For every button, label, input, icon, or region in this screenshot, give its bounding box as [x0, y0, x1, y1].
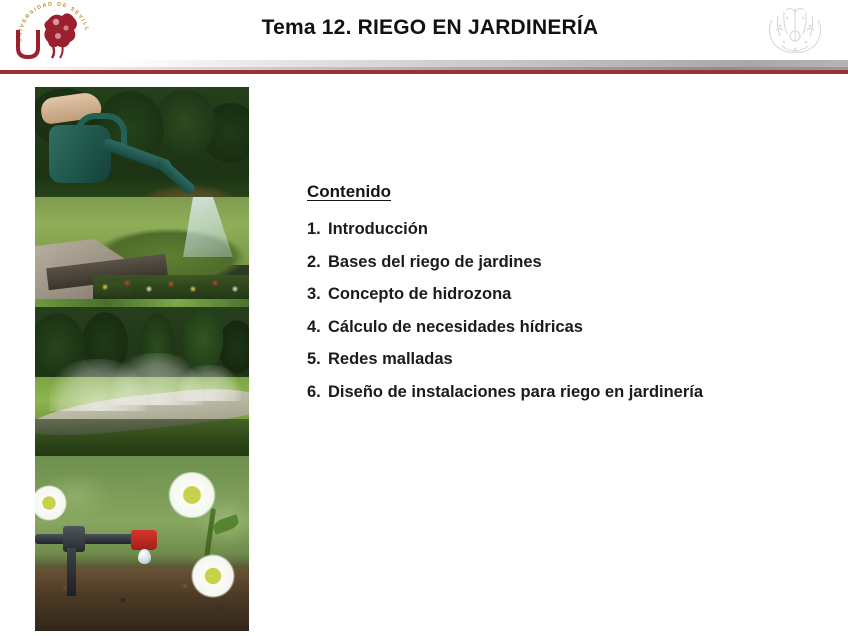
wreath-emblem-watermark-icon: [760, 2, 830, 60]
content-heading: Contenido: [307, 182, 827, 202]
item-label: Bases del riego de jardines: [328, 253, 542, 272]
flower-bed: [93, 275, 249, 299]
red-dripper-emitter: [131, 530, 157, 550]
header-accent-rule: [0, 70, 848, 74]
content-block: Contenido 1. Introducción 2. Bases del r…: [307, 182, 827, 415]
daisy-flower: [185, 554, 241, 598]
item-number: 6.: [307, 383, 328, 402]
list-item: 3. Concepto de hidrozona: [307, 285, 827, 304]
item-number: 2.: [307, 253, 328, 272]
photo-column: [35, 87, 249, 631]
item-number: 1.: [307, 220, 328, 239]
item-number: 5.: [307, 350, 328, 369]
item-label: Diseño de instalaciones para riego en ja…: [328, 383, 703, 402]
watering-can-body: [49, 125, 111, 183]
photo-lawn-sprinklers: [35, 299, 249, 456]
ground-stake: [67, 548, 76, 596]
item-label: Introducción: [328, 220, 428, 239]
slide: UNIVERSIDAD DE SEVILLA Tema 12. RIEGO EN…: [0, 0, 848, 636]
page-title: Tema 12. RIEGO EN JARDINERÍA: [110, 16, 750, 40]
list-item: 5. Redes malladas: [307, 350, 827, 369]
list-item: 2. Bases del riego de jardines: [307, 253, 827, 272]
header-gradient-divider: [0, 60, 848, 70]
item-label: Redes malladas: [328, 350, 453, 369]
photo-watering-can: [35, 87, 249, 299]
list-item: 4. Cálculo de necesidades hídricas: [307, 318, 827, 337]
table-of-contents: 1. Introducción 2. Bases del riego de ja…: [307, 220, 827, 402]
item-number: 3.: [307, 285, 328, 304]
item-label: Cálculo de necesidades hídricas: [328, 318, 583, 337]
slide-header: UNIVERSIDAD DE SEVILLA Tema 12. RIEGO EN…: [0, 0, 848, 60]
universidad-de-sevilla-crest-icon: UNIVERSIDAD DE SEVILLA: [8, 2, 104, 62]
foreground-shadow: [35, 419, 249, 456]
list-item: 6. Diseño de instalaciones para riego en…: [307, 383, 827, 402]
water-droplet: [138, 549, 151, 564]
item-number: 4.: [307, 318, 328, 337]
list-item: 1. Introducción: [307, 220, 827, 239]
photo-drip-emitter: [35, 456, 249, 631]
item-label: Concepto de hidrozona: [328, 285, 511, 304]
sprinkler-spray-arc: [177, 365, 241, 401]
drip-tube: [35, 534, 141, 544]
